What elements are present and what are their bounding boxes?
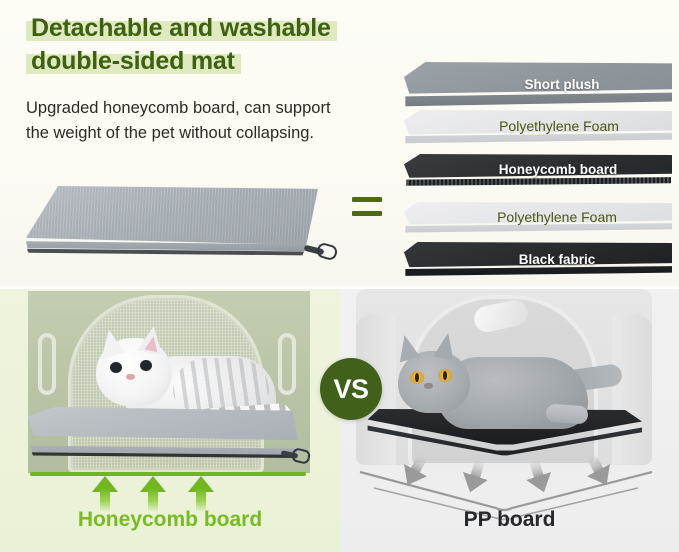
flat-honeycomb-mat <box>28 407 298 467</box>
layer-1-label: Short plush <box>404 64 672 104</box>
cat-right-head <box>398 351 470 413</box>
description-paragraph: Upgraded honeycomb board, can support th… <box>26 96 386 146</box>
cat-right-pupil-left <box>415 373 419 382</box>
layer-black-fabric: Black fabric <box>404 242 672 290</box>
carrier-left-strap-right <box>278 333 296 395</box>
vs-badge: VS <box>320 358 382 420</box>
layer-honeycomb-board: Honeycomb board <box>404 154 672 206</box>
cat-left-stripes <box>173 358 269 410</box>
up-arrow-3 <box>188 476 214 512</box>
cat-right-eye-right <box>438 369 452 382</box>
flat-mat-zipper-icon <box>281 449 307 463</box>
cat-left-eye-right <box>140 360 152 371</box>
description-line-2: the weight of the pet without collapsing… <box>26 121 386 146</box>
cat-grey <box>386 333 618 449</box>
top-section: Detachable and washable double-sided mat… <box>0 0 679 288</box>
equals-bar-bottom <box>352 211 382 216</box>
layer-3-label: Honeycomb board <box>404 154 672 184</box>
equals-sign-icon <box>352 197 382 221</box>
headline-text-2: double-sided mat <box>31 47 235 76</box>
flat-mat-edge <box>28 439 298 461</box>
mat-zipper-icon <box>304 244 334 260</box>
layer-2-label: Polyethylene Foam <box>404 110 672 142</box>
description-line-1: Upgraded honeycomb board, can support <box>26 96 386 121</box>
headline-line-2: double-sided mat <box>26 47 241 76</box>
cat-right-pupil-right <box>443 371 447 380</box>
zipper-pull <box>315 242 338 262</box>
equals-bar-top <box>352 197 382 202</box>
support-arrows-up <box>30 470 310 510</box>
carrier-left-strap-left <box>38 333 56 395</box>
up-arrow-2 <box>140 476 166 512</box>
cat-left-nose <box>126 374 135 380</box>
layer-polyethylene-foam-top: Polyethylene Foam <box>404 110 672 158</box>
label-honeycomb-board: Honeycomb board <box>0 508 340 532</box>
headline-line-1: Detachable and washable <box>26 14 337 43</box>
up-arrow-1 <box>92 476 118 512</box>
layer-4-label: Polyethylene Foam <box>404 202 672 232</box>
cat-left-eye-left <box>110 362 122 373</box>
cat-right-eye-left <box>410 371 424 384</box>
cat-right-paw <box>545 404 588 425</box>
layer-stack-diagram: Short plush Polyethylene Foam Honeycomb … <box>404 62 672 274</box>
layer-5-label: Black fabric <box>404 244 672 274</box>
headline: Detachable and washable double-sided mat <box>26 14 406 80</box>
product-mat-illustration <box>8 178 338 283</box>
infographic-page: Detachable and washable double-sided mat… <box>0 0 679 552</box>
headline-text-1: Detachable and washable <box>31 14 331 43</box>
vs-badge-label: VS <box>333 374 368 405</box>
label-pp-board: PP board <box>340 508 679 532</box>
cat-right-nose <box>424 383 433 389</box>
